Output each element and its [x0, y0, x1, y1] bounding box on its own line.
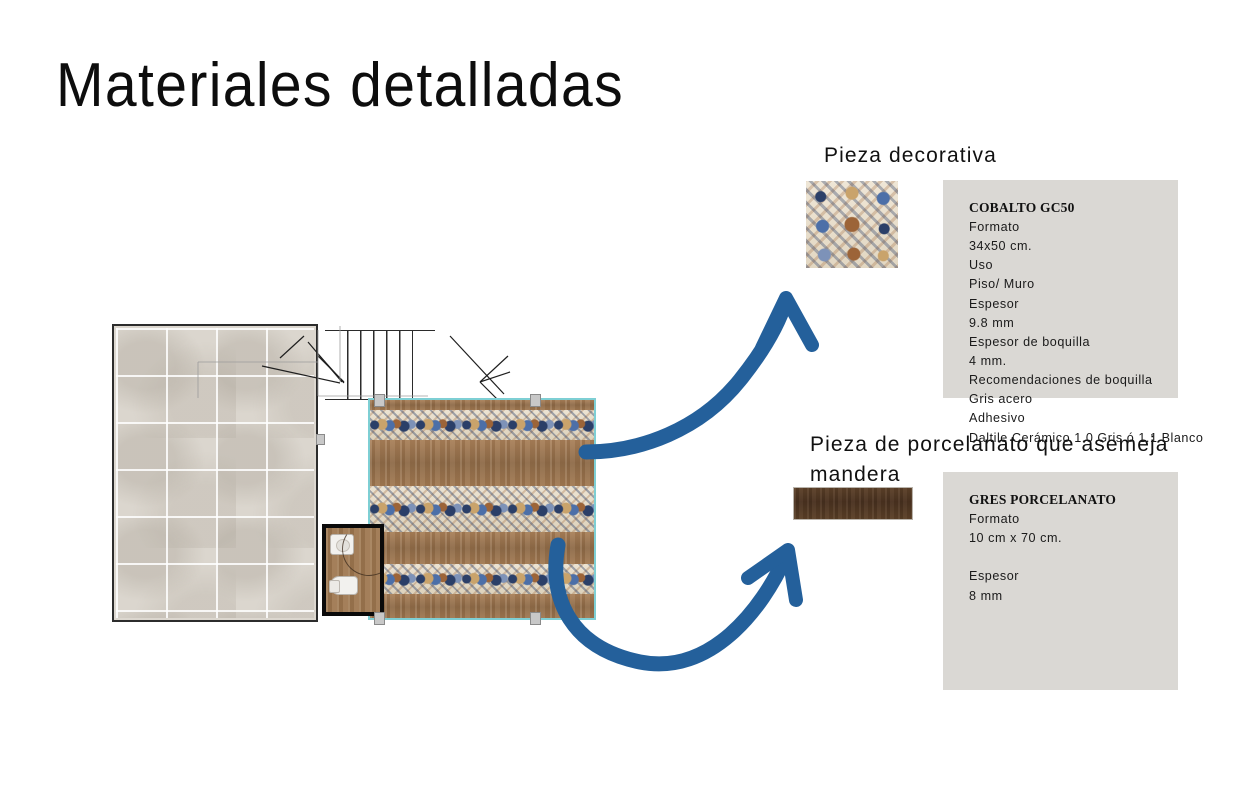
- spec-heading-cobalto: COBALTO GC50: [969, 200, 1178, 216]
- spec-heading-gres: GRES PORCELANATO: [969, 492, 1178, 508]
- spec-line: Formato: [969, 510, 1178, 529]
- room-right-patterned: [368, 398, 596, 620]
- spec-line: Daltile Cerámico 1.0 Gris ó 1.1 Blanco: [969, 429, 1178, 448]
- toilet-fixture: [330, 576, 358, 595]
- column-node: [530, 394, 541, 407]
- column-node: [316, 434, 325, 445]
- spec-line: Gris acero: [969, 390, 1178, 409]
- column-node: [374, 394, 385, 407]
- spec-line: Formato: [969, 218, 1178, 237]
- wood-band: [370, 400, 594, 410]
- spec-line: Adhesivo: [969, 409, 1178, 428]
- spec-line: 4 mm.: [969, 352, 1178, 371]
- spec-line: [969, 548, 1178, 567]
- page-title: Materiales detalladas: [56, 52, 624, 120]
- spec-line: Uso: [969, 256, 1178, 275]
- spec-lines-cobalto: Formato34x50 cm.UsoPiso/ MuroEspesor9.8 …: [969, 218, 1178, 448]
- arrow-to-decorative-tile: [586, 298, 812, 452]
- spec-panel-cobalto: COBALTO GC50 Formato34x50 cm.UsoPiso/ Mu…: [943, 180, 1178, 398]
- decorative-tile-swatch: [806, 181, 898, 268]
- column-node: [530, 612, 541, 625]
- spec-lines-gres: Formato10 cm x 70 cm. Espesor8 mm: [969, 510, 1178, 606]
- decorative-tile-band: [370, 410, 594, 440]
- bathroom: [322, 524, 384, 616]
- wood-band: [370, 532, 594, 564]
- spec-line: Recomendaciones de boquilla: [969, 371, 1178, 390]
- wood-plank-texture: [794, 488, 912, 519]
- spec-line: Piso/ Muro: [969, 275, 1178, 294]
- column-node: [374, 612, 385, 625]
- spec-line: 10 cm x 70 cm.: [969, 529, 1178, 548]
- spec-line: Espesor: [969, 567, 1178, 586]
- decorative-tile-texture: [806, 181, 898, 268]
- spec-panel-gres: GRES PORCELANATO Formato10 cm x 70 cm. E…: [943, 472, 1178, 690]
- spec-line: Espesor: [969, 295, 1178, 314]
- wood-band: [370, 440, 594, 486]
- decorative-tile-band: [370, 564, 594, 594]
- spec-line: 9.8 mm: [969, 314, 1178, 333]
- wood-band: [370, 594, 594, 620]
- wood-plank-swatch: [793, 487, 913, 520]
- spec-line: 34x50 cm.: [969, 237, 1178, 256]
- decorative-tile-band: [370, 486, 594, 532]
- spec-line: Espesor de boquilla: [969, 333, 1178, 352]
- slide-canvas: Materiales detalladas: [0, 0, 1244, 792]
- floor-plan: [112, 320, 596, 624]
- spec-line: 8 mm: [969, 587, 1178, 606]
- callout-label-decorativa: Pieza decorativa: [824, 141, 997, 171]
